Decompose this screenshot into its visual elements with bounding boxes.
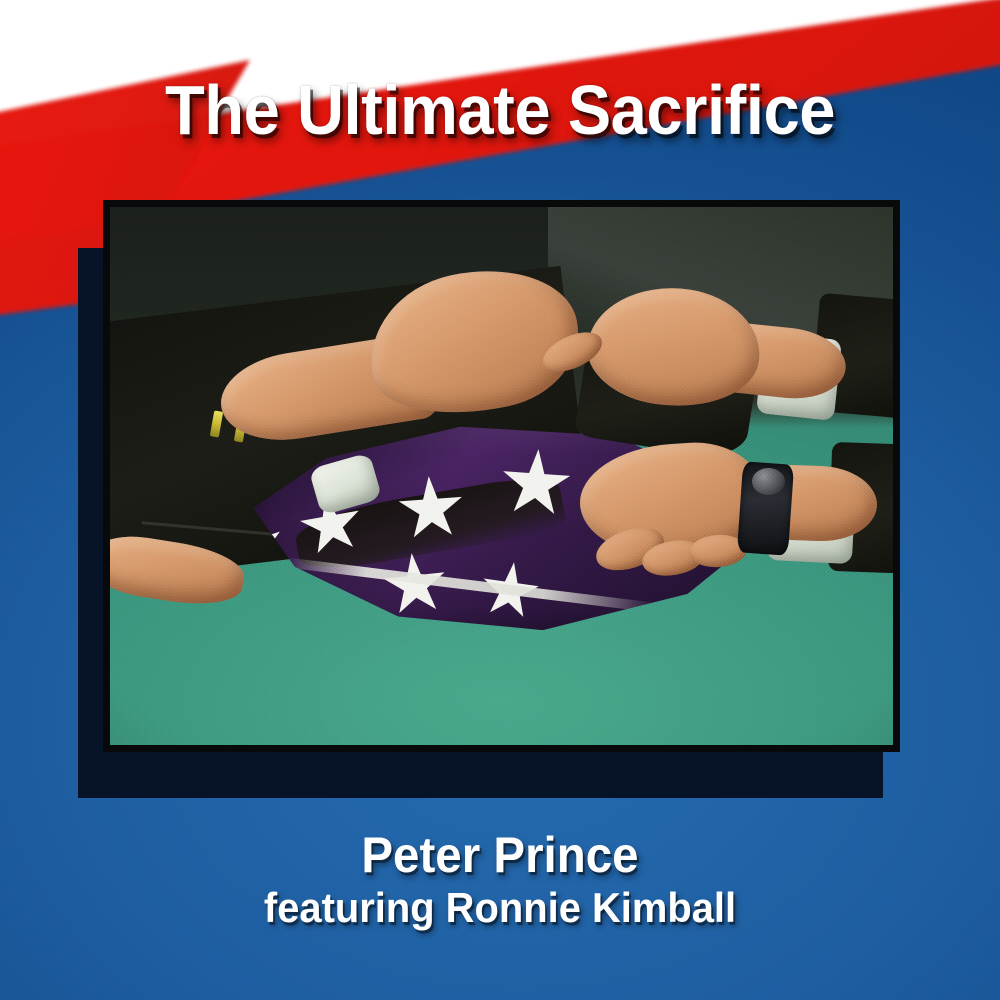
album-title: The Ultimate Sacrifice xyxy=(35,70,965,150)
wristwatch-face xyxy=(752,468,785,495)
five-point-star-icon xyxy=(262,582,324,644)
featuring-credit: featuring Ronnie Kimball xyxy=(25,884,975,932)
cover-photo-frame xyxy=(103,200,900,752)
cover-photo xyxy=(110,207,893,745)
album-cover: The Ultimate Sacrifice xyxy=(0,0,1000,1000)
artist-name: Peter Prince xyxy=(25,826,975,884)
